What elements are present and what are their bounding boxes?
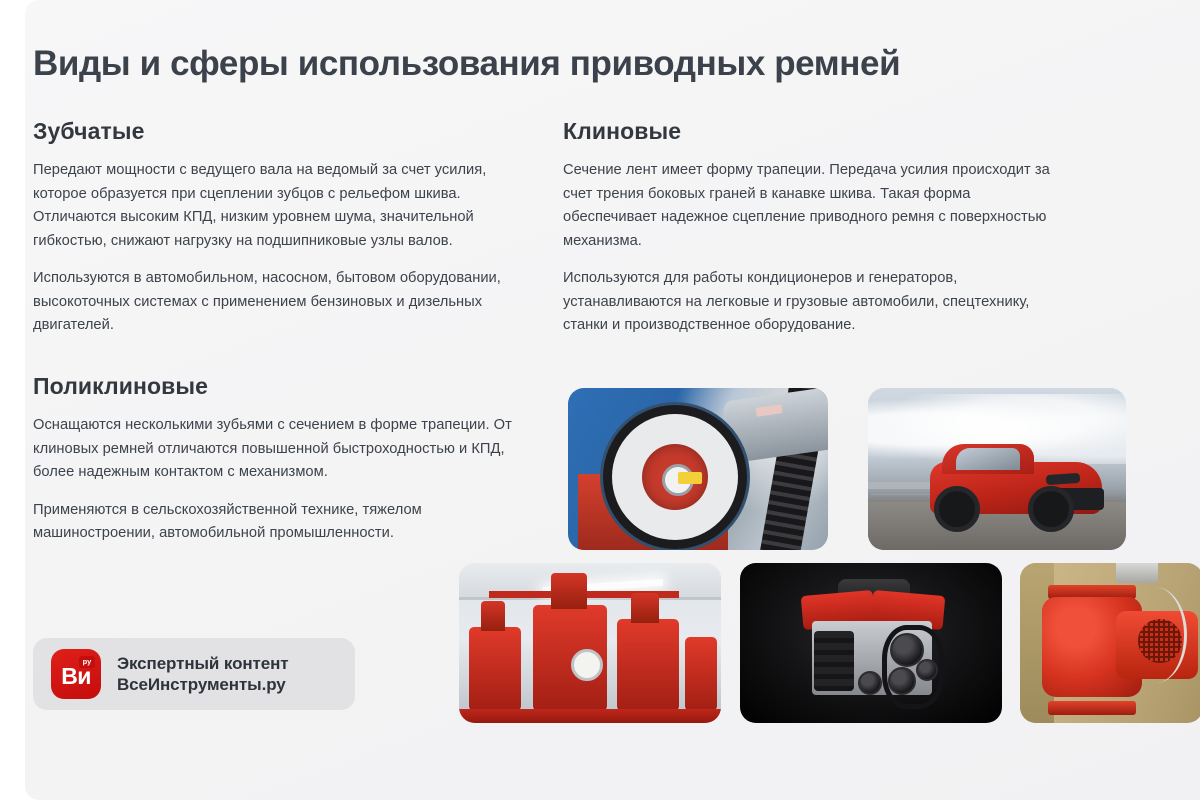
pump-unit-4-shape [685,637,717,711]
car-front-wheel-shape [1028,486,1074,532]
fire-pumps-scene [459,563,721,723]
pump-riser-1-shape [481,601,505,631]
brand-text-block: Экспертный контент ВсеИнструменты.ру [117,653,289,695]
pump-riser-2-shape [551,573,587,609]
photo-v8-engine [740,563,1002,723]
chrome-fitting-shape [1116,563,1158,583]
section-polywedge-paragraph-2: Применяются в сельскохозяйственной техни… [33,499,523,546]
yellow-tag-shape [678,472,702,484]
photo-belt-pulley [568,388,828,550]
section-wedge-paragraph-1: Сечение лент имеет форму трапеции. Перед… [563,159,1063,253]
brand-badge[interactable]: Ви ру Экспертный контент ВсеИнструменты.… [33,638,355,710]
v8-engine-scene [740,563,1002,723]
section-toothed-paragraph-1: Передают мощности с ведущего вала на вед… [33,159,513,253]
car-windshield-shape [956,448,1020,470]
section-wedge: Клиновые Сечение лент имеет форму трапец… [563,118,1063,338]
engine-headers-shape [814,631,854,691]
engine-pulley-2-shape [888,667,916,695]
engine-pulley-3-shape [858,671,882,695]
pump-unit-3-shape [617,619,679,711]
pump-flange-bottom-shape [1048,701,1136,715]
section-polywedge-paragraph-1: Оснащаются несколькими зубьями с сечение… [33,414,523,485]
belt-pulley-scene [568,388,828,550]
pump-base-shape [459,709,721,723]
section-polywedge: Поликлиновые Оснащаются несколькими зубь… [33,373,523,546]
photo-sports-car [868,388,1126,550]
section-wedge-heading: Клиновые [563,118,1063,145]
car-rear-wheel-shape [934,486,980,532]
section-wedge-paragraph-2: Используются для работы кондиционеров и … [563,267,1063,338]
sports-car-scene [868,388,1126,550]
brand-line-1: Экспертный контент [117,653,289,674]
pump-riser-3-shape [631,593,659,623]
section-toothed-paragraph-2: Используются в автомобильном, насосном, … [33,267,513,338]
vseinstrumenty-logo-icon: Ви ру [51,649,101,699]
photo-industrial-pump [1020,563,1200,723]
pressure-gauge-shape [571,649,603,681]
pulley-wheel-shape [612,414,738,540]
page-title: Виды и сферы использования приводных рем… [33,44,900,84]
section-toothed-heading: Зубчатые [33,118,513,145]
section-polywedge-heading: Поликлиновые [33,373,523,400]
section-toothed: Зубчатые Передают мощности с ведущего ва… [33,118,513,338]
photo-fire-pumps [459,563,721,723]
brand-line-2: ВсеИнструменты.ру [117,674,289,695]
pump-cable-shape [1124,587,1187,683]
pump-unit-1-shape [469,627,521,711]
engine-pulley-4-shape [916,659,938,681]
infographic-card: Виды и сферы использования приводных рем… [25,0,1200,800]
industrial-pump-scene [1020,563,1200,723]
brand-logo-superscript: ру [79,656,95,668]
